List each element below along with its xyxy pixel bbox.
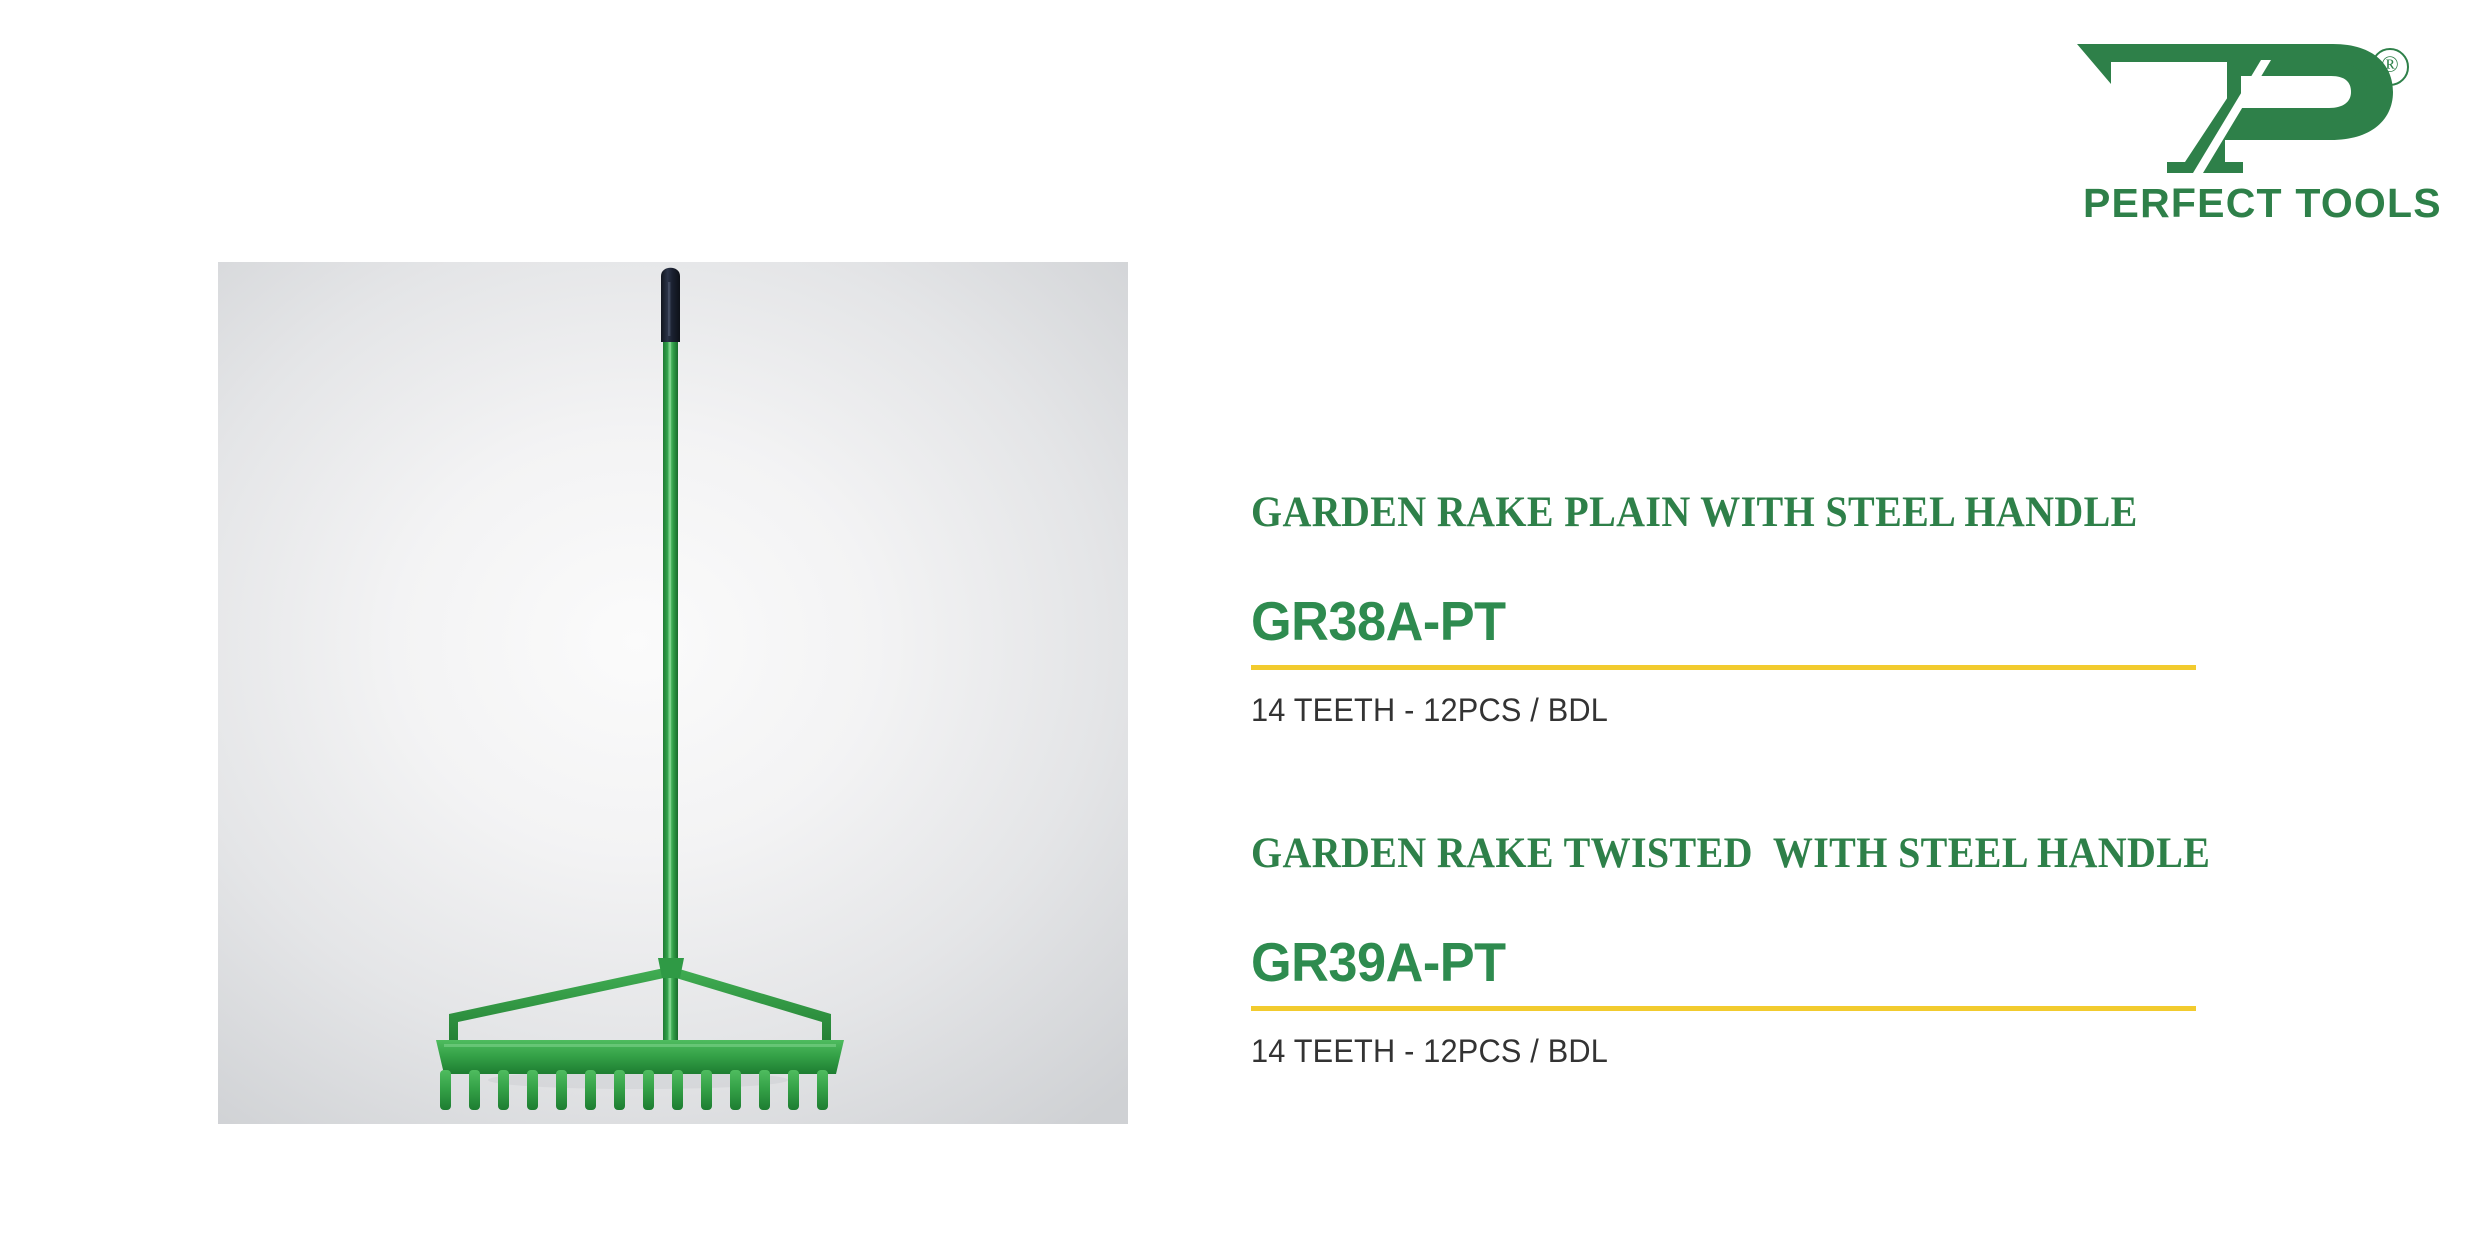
product-title: GARDEN RAKE TWISTED WITH STEEL HANDLE [1251, 829, 2228, 878]
brand-wordmark: PERFECT TOOLS [2083, 180, 2442, 227]
product-block-gr39a: GARDEN RAKE TWISTED WITH STEEL HANDLE GR… [1251, 829, 2301, 1070]
perfect-tools-7p-monogram-icon [2075, 40, 2395, 175]
product-image-panel [218, 262, 1128, 1124]
garden-rake-photo-icon [218, 262, 1128, 1124]
registered-trademark-icon: ® [2371, 48, 2409, 86]
code-underline-rule [1251, 665, 2196, 670]
product-spec-line: 14 TEETH - 12PCS / BDL [1251, 1033, 2259, 1070]
product-code: GR39A-PT [1251, 930, 2249, 994]
code-underline-rule [1251, 1006, 2196, 1011]
product-specifications: GARDEN RAKE PLAIN WITH STEEL HANDLE GR38… [1251, 488, 2301, 1070]
product-block-gr38a: GARDEN RAKE PLAIN WITH STEEL HANDLE GR38… [1251, 488, 2301, 729]
product-spec-line: 14 TEETH - 12PCS / BDL [1251, 692, 2259, 729]
brand-logo: ® PERFECT TOOLS [2075, 40, 2420, 220]
product-title: GARDEN RAKE PLAIN WITH STEEL HANDLE [1251, 488, 2228, 537]
product-code: GR38A-PT [1251, 589, 2249, 653]
